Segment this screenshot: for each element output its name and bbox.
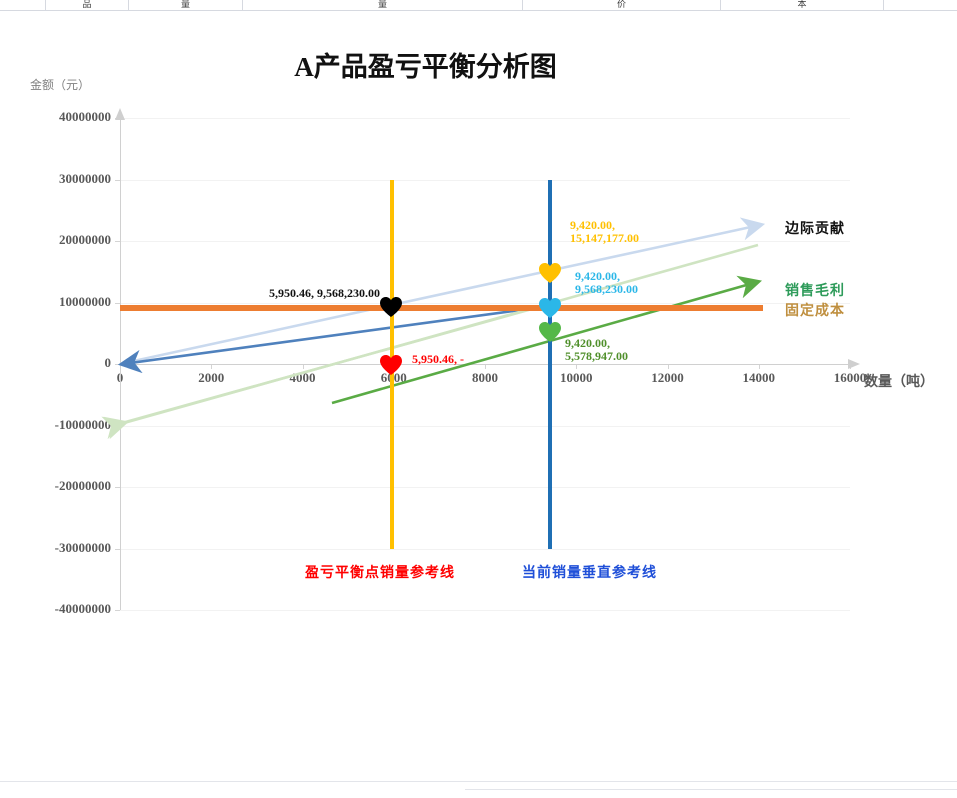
y-tick-label: 40000000 bbox=[0, 109, 111, 125]
marker-gross-profit-current[interactable] bbox=[538, 321, 562, 343]
y-tick-label: 20000000 bbox=[0, 232, 111, 248]
spreadsheet-header-strip: 品 量 量 价 本 bbox=[0, 0, 957, 11]
series-line-gross-profit-full bbox=[124, 245, 758, 423]
y-tick-label: 10000000 bbox=[0, 294, 111, 310]
series-line-fixed-cost bbox=[120, 305, 763, 311]
sheet-column-header[interactable] bbox=[0, 0, 46, 11]
series-label-fixed-cost: 固定成本 bbox=[785, 300, 845, 320]
data-label-line2: 5,578,947.00 bbox=[565, 350, 628, 363]
sheet-column-header[interactable]: 量 bbox=[129, 0, 243, 11]
current-volume-reference-line[interactable] bbox=[548, 180, 552, 549]
bottom-divider-secondary bbox=[465, 789, 957, 790]
plot-area: 400000003000000020000000100000000-100000… bbox=[120, 118, 850, 610]
note-break-even-reference-line: 盈亏平衡点销量参考线 bbox=[305, 562, 455, 582]
marker-break-even-volume[interactable] bbox=[379, 354, 403, 376]
x-axis-arrow bbox=[848, 358, 862, 371]
y-tick-label: -20000000 bbox=[0, 478, 111, 494]
series-line-sales-gross-profit bbox=[120, 278, 758, 423]
y-tick-mark bbox=[115, 610, 120, 611]
sheet-column-header[interactable]: 价 bbox=[523, 0, 721, 11]
y-tick-label: -40000000 bbox=[0, 601, 111, 617]
breakeven-chart: A产品盈亏平衡分析图 金额（元） 40000000300000002000000… bbox=[0, 11, 957, 781]
series-label-gross-profit: 销售毛利 bbox=[785, 280, 845, 300]
bottom-divider bbox=[0, 781, 957, 782]
chart-page: 品 量 量 价 本 A产品盈亏平衡分析图 金额（元） 4000000030000… bbox=[0, 0, 957, 798]
marker-break-even-amount[interactable] bbox=[379, 296, 403, 318]
sheet-column-header[interactable] bbox=[884, 0, 957, 11]
note-current-volume-reference-line: 当前销量垂直参考线 bbox=[522, 562, 657, 582]
y-axis-title: 金额（元） bbox=[30, 76, 90, 93]
gridline bbox=[120, 610, 850, 611]
y-tick-label: -10000000 bbox=[0, 417, 111, 433]
sheet-column-header[interactable]: 量 bbox=[243, 0, 523, 11]
data-label-contribution-margin-current: 9,420.00, 15,147,177.00 bbox=[570, 219, 639, 245]
data-label-line2: 15,147,177.00 bbox=[570, 232, 639, 245]
series-lines-2 bbox=[120, 118, 850, 610]
data-label-fixed-cost-current: 9,420.00, 9,568,230.00 bbox=[575, 270, 638, 296]
chart-title-text: A产品盈亏平衡分析图 bbox=[294, 52, 557, 82]
y-tick-label: 0 bbox=[0, 355, 111, 371]
data-label-line2: 9,568,230.00 bbox=[575, 283, 638, 296]
data-label-gross-profit-current: 9,420.00, 5,578,947.00 bbox=[565, 337, 628, 363]
chart-title: A产品盈亏平衡分析图 bbox=[0, 45, 957, 84]
data-label-break-even-volume: 5,950.46, - bbox=[412, 353, 464, 366]
marker-fixed-cost-current[interactable] bbox=[538, 297, 562, 319]
series-label-contribution-margin: 边际贡献 bbox=[785, 218, 845, 238]
sheet-column-header[interactable]: 本 bbox=[721, 0, 884, 11]
data-label-break-even-amount: 5,950.46, 9,568,230.00 bbox=[269, 287, 380, 300]
sheet-column-header[interactable]: 品 bbox=[46, 0, 129, 11]
y-tick-label: -30000000 bbox=[0, 540, 111, 556]
x-axis-title: 数量（吨） bbox=[864, 371, 934, 391]
y-tick-label: 30000000 bbox=[0, 171, 111, 187]
marker-contribution-margin-current[interactable] bbox=[538, 262, 562, 284]
